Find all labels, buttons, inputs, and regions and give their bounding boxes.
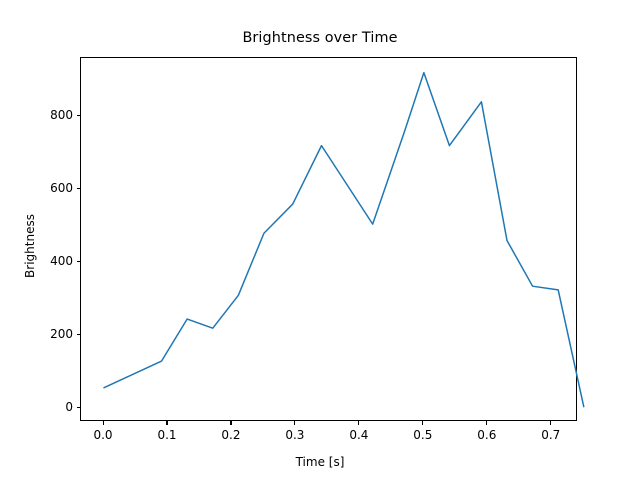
x-tick-label: 0.0 bbox=[73, 428, 133, 442]
y-tick-label: 0 bbox=[13, 400, 73, 414]
y-tick-label: 600 bbox=[13, 181, 73, 195]
x-axis-label: Time [s] bbox=[0, 455, 640, 469]
chart-title: Brightness over Time bbox=[0, 30, 640, 46]
y-tick-mark bbox=[77, 115, 81, 116]
x-tick-mark bbox=[166, 421, 167, 425]
y-tick-mark bbox=[77, 334, 81, 335]
plot-area bbox=[80, 57, 577, 421]
y-tick-label: 200 bbox=[13, 327, 73, 341]
x-tick-mark bbox=[103, 421, 104, 425]
x-tick-label: 0.4 bbox=[329, 428, 389, 442]
y-tick-mark bbox=[77, 188, 81, 189]
x-tick-label: 0.1 bbox=[137, 428, 197, 442]
x-tick-mark bbox=[486, 421, 487, 425]
line-series-brightness bbox=[81, 58, 578, 422]
x-tick-label: 0.2 bbox=[201, 428, 261, 442]
x-tick-mark bbox=[230, 421, 231, 425]
x-tick-mark bbox=[358, 421, 359, 425]
x-tick-mark bbox=[422, 421, 423, 425]
y-tick-label: 800 bbox=[13, 108, 73, 122]
x-tick-label: 0.6 bbox=[457, 428, 517, 442]
chart-figure: Brightness over Time 0200400600800 0.00.… bbox=[0, 0, 640, 480]
x-tick-mark bbox=[550, 421, 551, 425]
x-tick-label: 0.7 bbox=[521, 428, 581, 442]
y-axis-label: Brightness bbox=[23, 106, 37, 386]
series-polyline bbox=[104, 73, 584, 407]
x-tick-label: 0.3 bbox=[265, 428, 325, 442]
y-tick-mark bbox=[77, 261, 81, 262]
x-tick-mark bbox=[294, 421, 295, 425]
x-tick-label: 0.5 bbox=[393, 428, 453, 442]
y-tick-mark bbox=[77, 407, 81, 408]
y-tick-label: 400 bbox=[13, 254, 73, 268]
